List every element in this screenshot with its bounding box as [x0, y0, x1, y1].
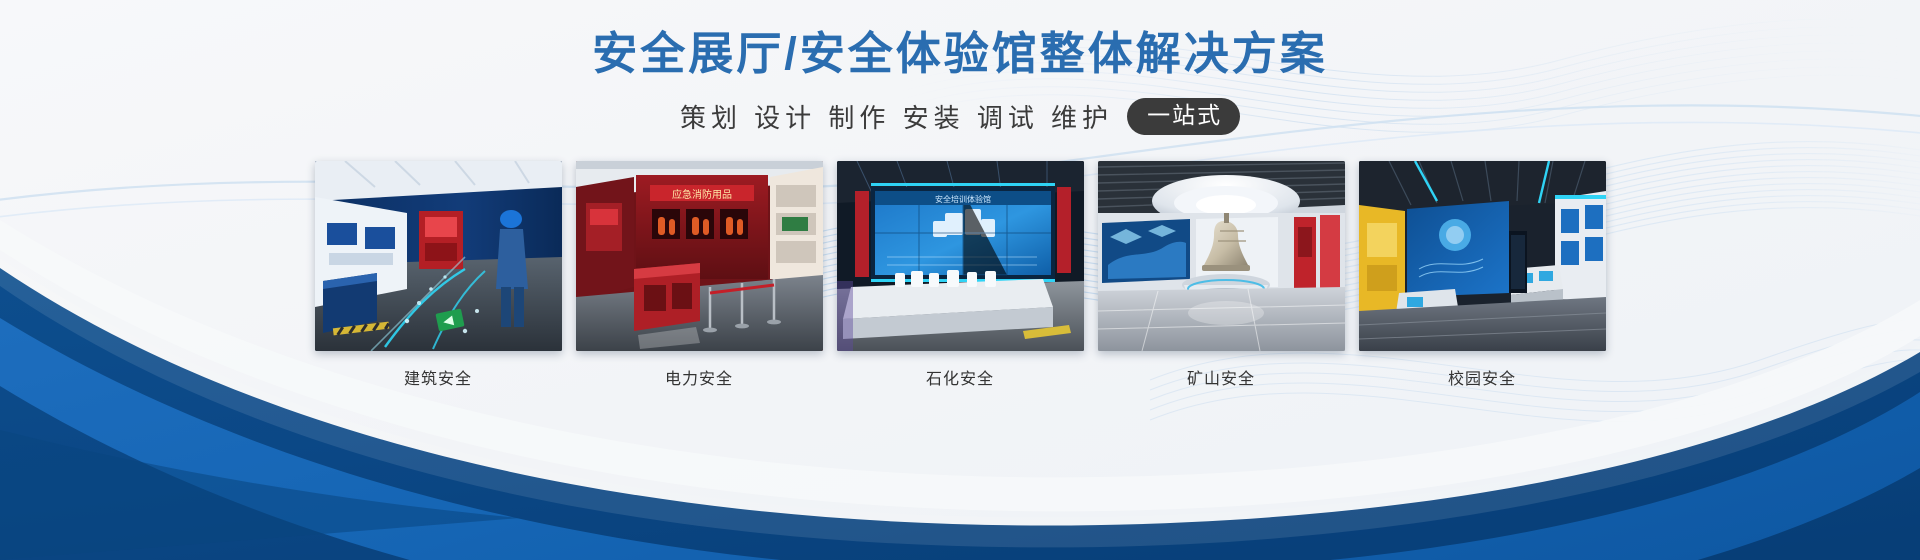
- scene-thumbnail-mining[interactable]: [1098, 161, 1345, 351]
- scene-card[interactable]: 校园安全: [1359, 161, 1606, 389]
- scene-card[interactable]: 应急消防用品: [576, 161, 823, 389]
- scene-caption: 建筑安全: [404, 365, 472, 389]
- scene-thumbnail-construction[interactable]: [315, 161, 562, 351]
- scene-caption: 电力安全: [665, 365, 733, 389]
- service-steps-text: 策划 设计 制作 安装 调试 维护: [680, 98, 1113, 135]
- scene-caption: 校园安全: [1448, 365, 1516, 389]
- scene-card-list: 建筑安全: [315, 161, 1606, 389]
- subtitle-row: 策划 设计 制作 安装 调试 维护 一站式: [680, 98, 1240, 135]
- electric-power-safety-image: 应急消防用品: [576, 161, 823, 351]
- one-stop-badge: 一站式: [1127, 98, 1240, 135]
- construction-safety-image: [315, 161, 562, 351]
- svg-text:安全培训体验馆: 安全培训体验馆: [935, 194, 991, 204]
- scene-thumbnail-electric-power[interactable]: 应急消防用品: [576, 161, 823, 351]
- scene-card[interactable]: 建筑安全: [315, 161, 562, 389]
- promo-banner: 安全展厅/安全体验馆整体解决方案 策划 设计 制作 安装 调试 维护 一站式: [0, 0, 1920, 560]
- petrochemical-safety-image: 安全培训体验馆: [837, 161, 1084, 351]
- scene-caption: 石化安全: [926, 365, 994, 389]
- scene-thumbnail-petrochemical[interactable]: 安全培训体验馆: [837, 161, 1084, 351]
- svg-text:应急消防用品: 应急消防用品: [672, 188, 732, 201]
- banner-content: 安全展厅/安全体验馆整体解决方案 策划 设计 制作 安装 调试 维护 一站式: [0, 0, 1920, 560]
- page-title: 安全展厅/安全体验馆整体解决方案: [592, 26, 1328, 82]
- scene-thumbnail-campus[interactable]: [1359, 161, 1606, 351]
- scene-card[interactable]: 矿山安全: [1098, 161, 1345, 389]
- scene-caption: 矿山安全: [1187, 365, 1255, 389]
- scene-card[interactable]: 安全培训体验馆: [837, 161, 1084, 389]
- campus-safety-image: [1359, 161, 1606, 351]
- mining-safety-image: [1098, 161, 1345, 351]
